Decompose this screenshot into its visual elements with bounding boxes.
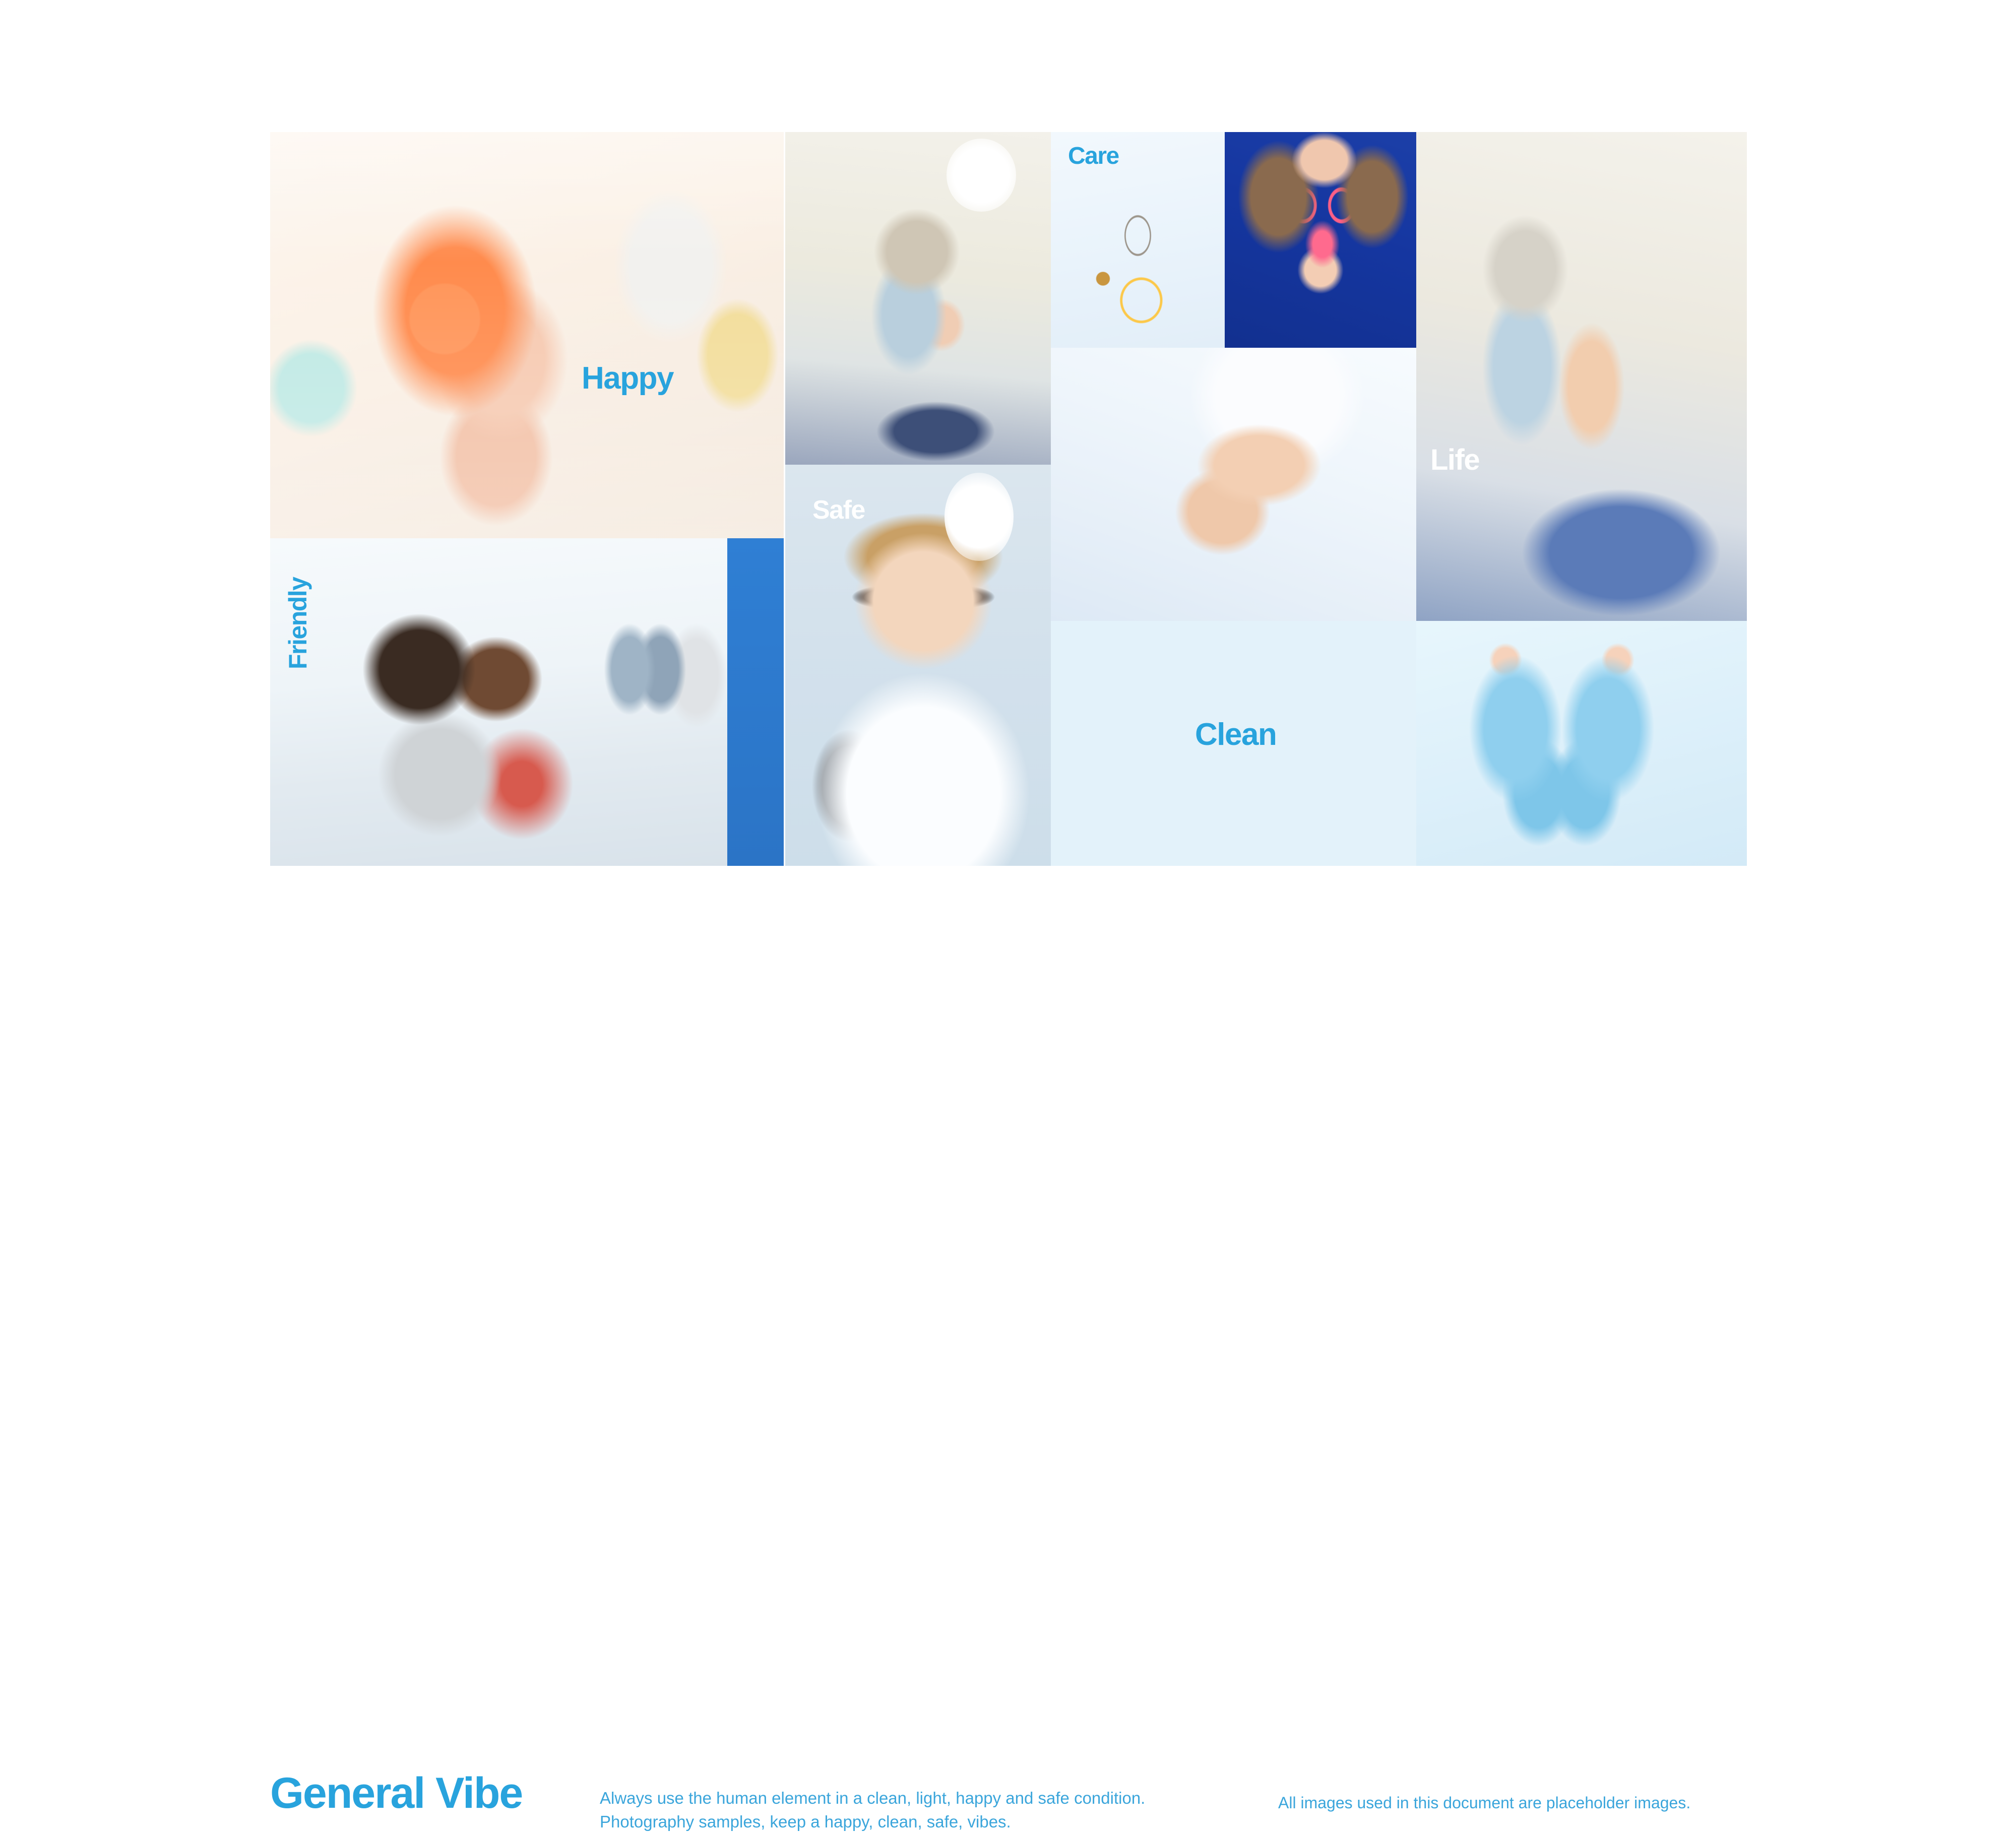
label-friendly: Friendly <box>285 578 310 669</box>
tile-delivery-room[interactable] <box>785 132 1054 465</box>
tile-happy[interactable]: Happy <box>270 132 784 538</box>
tile-safe[interactable]: Safe <box>785 465 1051 866</box>
vibe-description-line-1: Always use the human element in a clean,… <box>600 1787 1230 1810</box>
page-title: General Vibe <box>270 1770 522 1816</box>
tile-stethoscope-heart[interactable] <box>1225 132 1416 348</box>
tile-life[interactable]: Life <box>1416 132 1747 621</box>
photo-gloved-hands-heart <box>1416 621 1747 866</box>
vibe-description-line-2: Photography samples, keep a happy, clean… <box>600 1810 1230 1834</box>
tile-care-stethoscope[interactable]: Care <box>1051 132 1225 348</box>
slide-footer: General Vibe Always use the human elemen… <box>0 884 2016 975</box>
photo-happy-baby <box>270 132 784 538</box>
photo-nurse-newborn <box>1416 132 1747 621</box>
tile-friendly[interactable]: Friendly <box>270 538 784 866</box>
image-collage: Happy Care Life Friendly <box>270 132 1747 866</box>
label-happy: Happy <box>582 363 673 394</box>
label-safe: Safe <box>812 497 865 523</box>
photo-pink-stethoscope-heart <box>1225 132 1416 348</box>
tile-caring-hands[interactable] <box>1051 348 1416 621</box>
vibe-description: Always use the human element in a clean,… <box>600 1787 1230 1834</box>
label-care: Care <box>1068 144 1119 168</box>
slide-canvas: Happy Care Life Friendly <box>0 0 2016 1134</box>
photo-delivery-room <box>785 132 1054 465</box>
photo-school-friends <box>270 538 784 866</box>
label-life: Life <box>1430 446 1479 475</box>
placeholder-note: All images used in this document are pla… <box>1278 1792 1690 1814</box>
tile-gloved-hands-heart[interactable] <box>1416 621 1747 866</box>
photo-doctor-patient-hands <box>1051 348 1416 621</box>
label-clean: Clean <box>1195 719 1276 750</box>
photo-female-doctor <box>785 465 1051 866</box>
